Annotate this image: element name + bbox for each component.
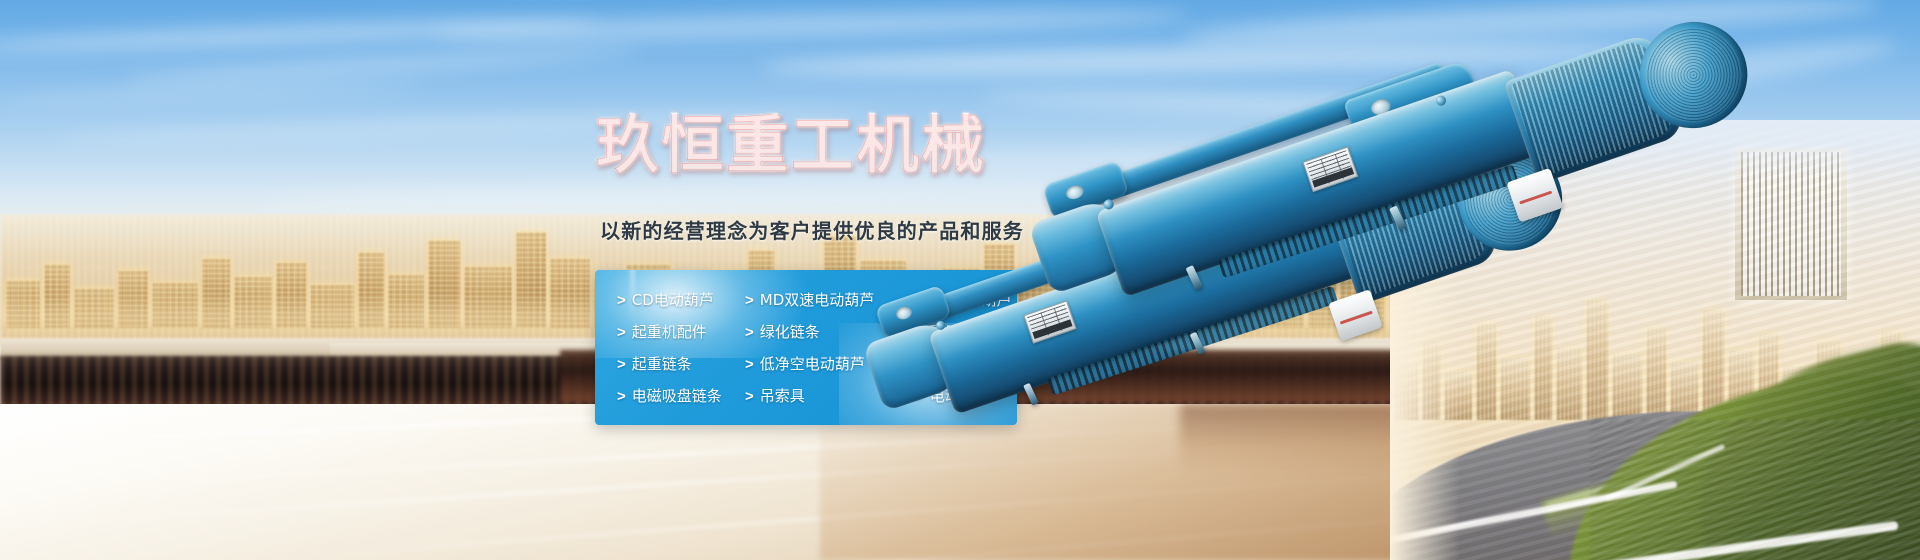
product-link-label: MD双速电动葫芦 bbox=[760, 293, 875, 308]
product-link-label: CD电动葫芦 bbox=[632, 293, 714, 308]
product-link-crane-parts[interactable]: > 起重机配件 bbox=[617, 325, 745, 340]
chevron-right-icon: > bbox=[617, 357, 626, 372]
product-link-lifting-chain[interactable]: > 起重链条 bbox=[617, 357, 745, 372]
product-link-label: 低净空电动葫芦 bbox=[760, 357, 865, 372]
cloud-streak bbox=[120, 43, 640, 88]
page-subtitle: 以新的经营理念为客户提供优良的产品和服务 bbox=[600, 219, 1024, 243]
product-link-slings[interactable]: > 吊索具 bbox=[745, 389, 897, 404]
building bbox=[1646, 328, 1666, 420]
junction-box-label bbox=[1340, 311, 1373, 325]
product-link-label: 吊索具 bbox=[760, 389, 805, 404]
building bbox=[1476, 324, 1496, 420]
product-link-md-dual-speed-hoist[interactable]: > MD双速电动葫芦 bbox=[745, 293, 897, 308]
product-link-magnetic-chuck-chain[interactable]: > 电磁吸盘链条 bbox=[617, 389, 745, 404]
product-link-label: 起重机配件 bbox=[632, 325, 707, 340]
chevron-right-icon: > bbox=[745, 357, 754, 372]
chevron-right-icon: > bbox=[745, 325, 754, 340]
building bbox=[1534, 316, 1552, 420]
chevron-right-icon: > bbox=[745, 293, 754, 308]
cloud-streak bbox=[0, 81, 420, 108]
hero-banner: 玖恒重工机械 以新的经营理念为客户提供优良的产品和服务 > CD电动葫芦 > M… bbox=[0, 0, 1920, 560]
junction-box-label bbox=[1519, 190, 1553, 204]
chevron-right-icon: > bbox=[617, 325, 626, 340]
chevron-right-icon: > bbox=[617, 389, 626, 404]
product-link-label: 电磁吸盘链条 bbox=[632, 389, 722, 404]
chevron-right-icon: > bbox=[617, 293, 626, 308]
product-link-label: 起重链条 bbox=[632, 357, 692, 372]
product-link-label: 绿化链条 bbox=[760, 325, 820, 340]
building bbox=[1556, 348, 1582, 420]
chevron-right-icon: > bbox=[745, 389, 754, 404]
product-link-cd-hoist[interactable]: > CD电动葫芦 bbox=[617, 293, 745, 308]
building bbox=[1586, 300, 1608, 420]
cloud-streak bbox=[430, 5, 1190, 46]
building bbox=[1500, 358, 1530, 420]
building bbox=[1612, 354, 1642, 420]
page-title: 玖恒重工机械 bbox=[596, 114, 986, 177]
